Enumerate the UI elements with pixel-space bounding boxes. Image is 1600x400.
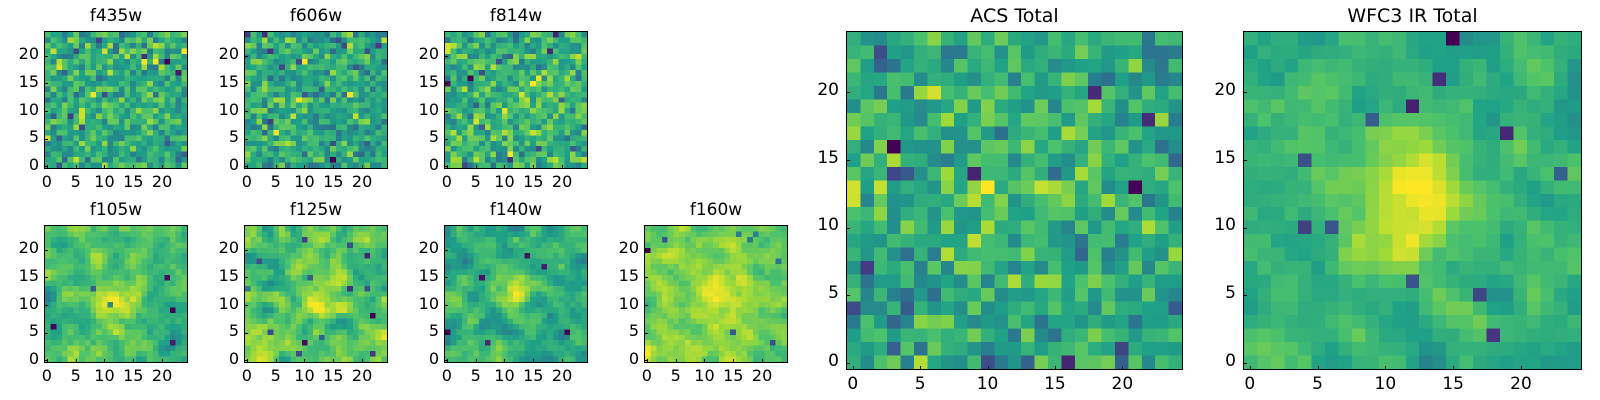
y-tick-label: 10 [1194, 215, 1236, 235]
x-tick-label: 5 [1298, 374, 1338, 394]
x-tick [1250, 366, 1251, 370]
y-tick [1243, 363, 1247, 364]
axes-wfc3-ir-total[interactable] [1243, 31, 1582, 370]
x-tick [1453, 366, 1454, 370]
x-tick [1318, 366, 1319, 370]
y-tick [1243, 228, 1247, 229]
y-tick-label: 20 [1194, 80, 1236, 100]
x-tick-label: 0 [1230, 374, 1270, 394]
figure-canvas: f435w 0510152005101520 f606w 05101520051… [0, 0, 1600, 400]
x-tick-label: 15 [1433, 374, 1473, 394]
x-tick [1521, 366, 1522, 370]
panel-wfc3-ir-total: WFC3 IR Total 0510152005101520 [0, 0, 1600, 400]
x-tick [1385, 366, 1386, 370]
y-tick-label: 0 [1194, 351, 1236, 371]
y-tick-label: 15 [1194, 148, 1236, 168]
y-tick-label: 5 [1194, 283, 1236, 303]
y-tick [1243, 160, 1247, 161]
x-tick-label: 20 [1501, 374, 1541, 394]
panel-title-wfc3-ir-total: WFC3 IR Total [1243, 5, 1582, 27]
y-tick [1243, 295, 1247, 296]
x-tick-label: 10 [1365, 374, 1405, 394]
y-tick [1243, 92, 1247, 93]
